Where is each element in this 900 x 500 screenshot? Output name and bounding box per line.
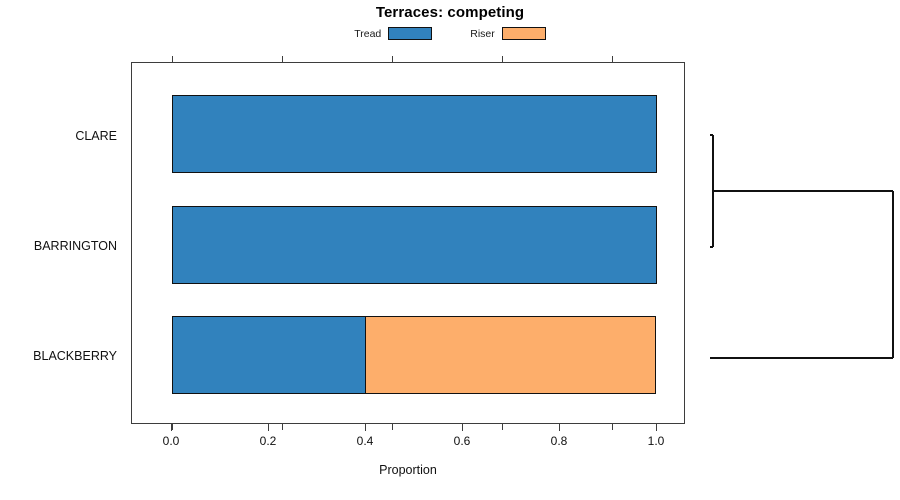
x-axis-tick [365, 424, 366, 431]
bar-track-clare [172, 95, 657, 173]
legend-item-tread: Tread [354, 27, 432, 40]
x-axis-tick-label: 0.8 [551, 434, 568, 448]
bar-row-clare [132, 95, 684, 173]
chart-canvas: Terraces: competing Tread Riser CLARE BA… [0, 0, 900, 500]
bar-row-barrington [132, 206, 684, 284]
x-axis: 0.0 0.2 0.4 0.6 0.8 1.0 [131, 424, 685, 425]
chart-legend: Tread Riser [0, 27, 900, 40]
panel-tick-top [502, 56, 503, 63]
x-axis-tick-label: 0.2 [260, 434, 277, 448]
row-label-clare: CLARE [75, 129, 117, 143]
legend-label-riser: Riser [470, 28, 495, 40]
x-axis-tick-label: 0.6 [454, 434, 471, 448]
panel-tick-top [172, 56, 173, 63]
bar-segment-riser [365, 316, 656, 394]
x-axis-tick [268, 424, 269, 431]
x-axis-title: Proportion [131, 463, 685, 477]
legend-label-tread: Tread [354, 28, 381, 40]
legend-swatch-riser [502, 27, 546, 40]
chart-title: Terraces: competing [0, 4, 900, 21]
bar-track-barrington [172, 206, 657, 284]
row-label-barrington: BARRINGTON [34, 239, 117, 253]
x-axis-tick-label: 1.0 [648, 434, 665, 448]
x-axis-tick-label: 0.0 [163, 434, 180, 448]
panel-tick-top [612, 56, 613, 63]
x-axis-tick [656, 424, 657, 431]
x-axis-tick [559, 424, 560, 431]
bar-track-blackberry [172, 316, 657, 394]
bar-segment-tread [172, 95, 657, 173]
x-axis-tick [171, 424, 172, 431]
bar-row-blackberry [132, 316, 684, 394]
panel-tick-top [392, 56, 393, 63]
legend-swatch-tread [388, 27, 432, 40]
panel-tick-top [282, 56, 283, 63]
plot-panel [131, 62, 685, 424]
x-axis-tick-label: 0.4 [357, 434, 374, 448]
bar-segment-tread [172, 206, 657, 284]
x-axis-tick [462, 424, 463, 431]
bar-segment-tread [172, 316, 366, 394]
row-label-blackberry: BLACKBERRY [33, 349, 117, 363]
legend-item-riser: Riser [470, 27, 546, 40]
dendrogram [685, 62, 900, 424]
